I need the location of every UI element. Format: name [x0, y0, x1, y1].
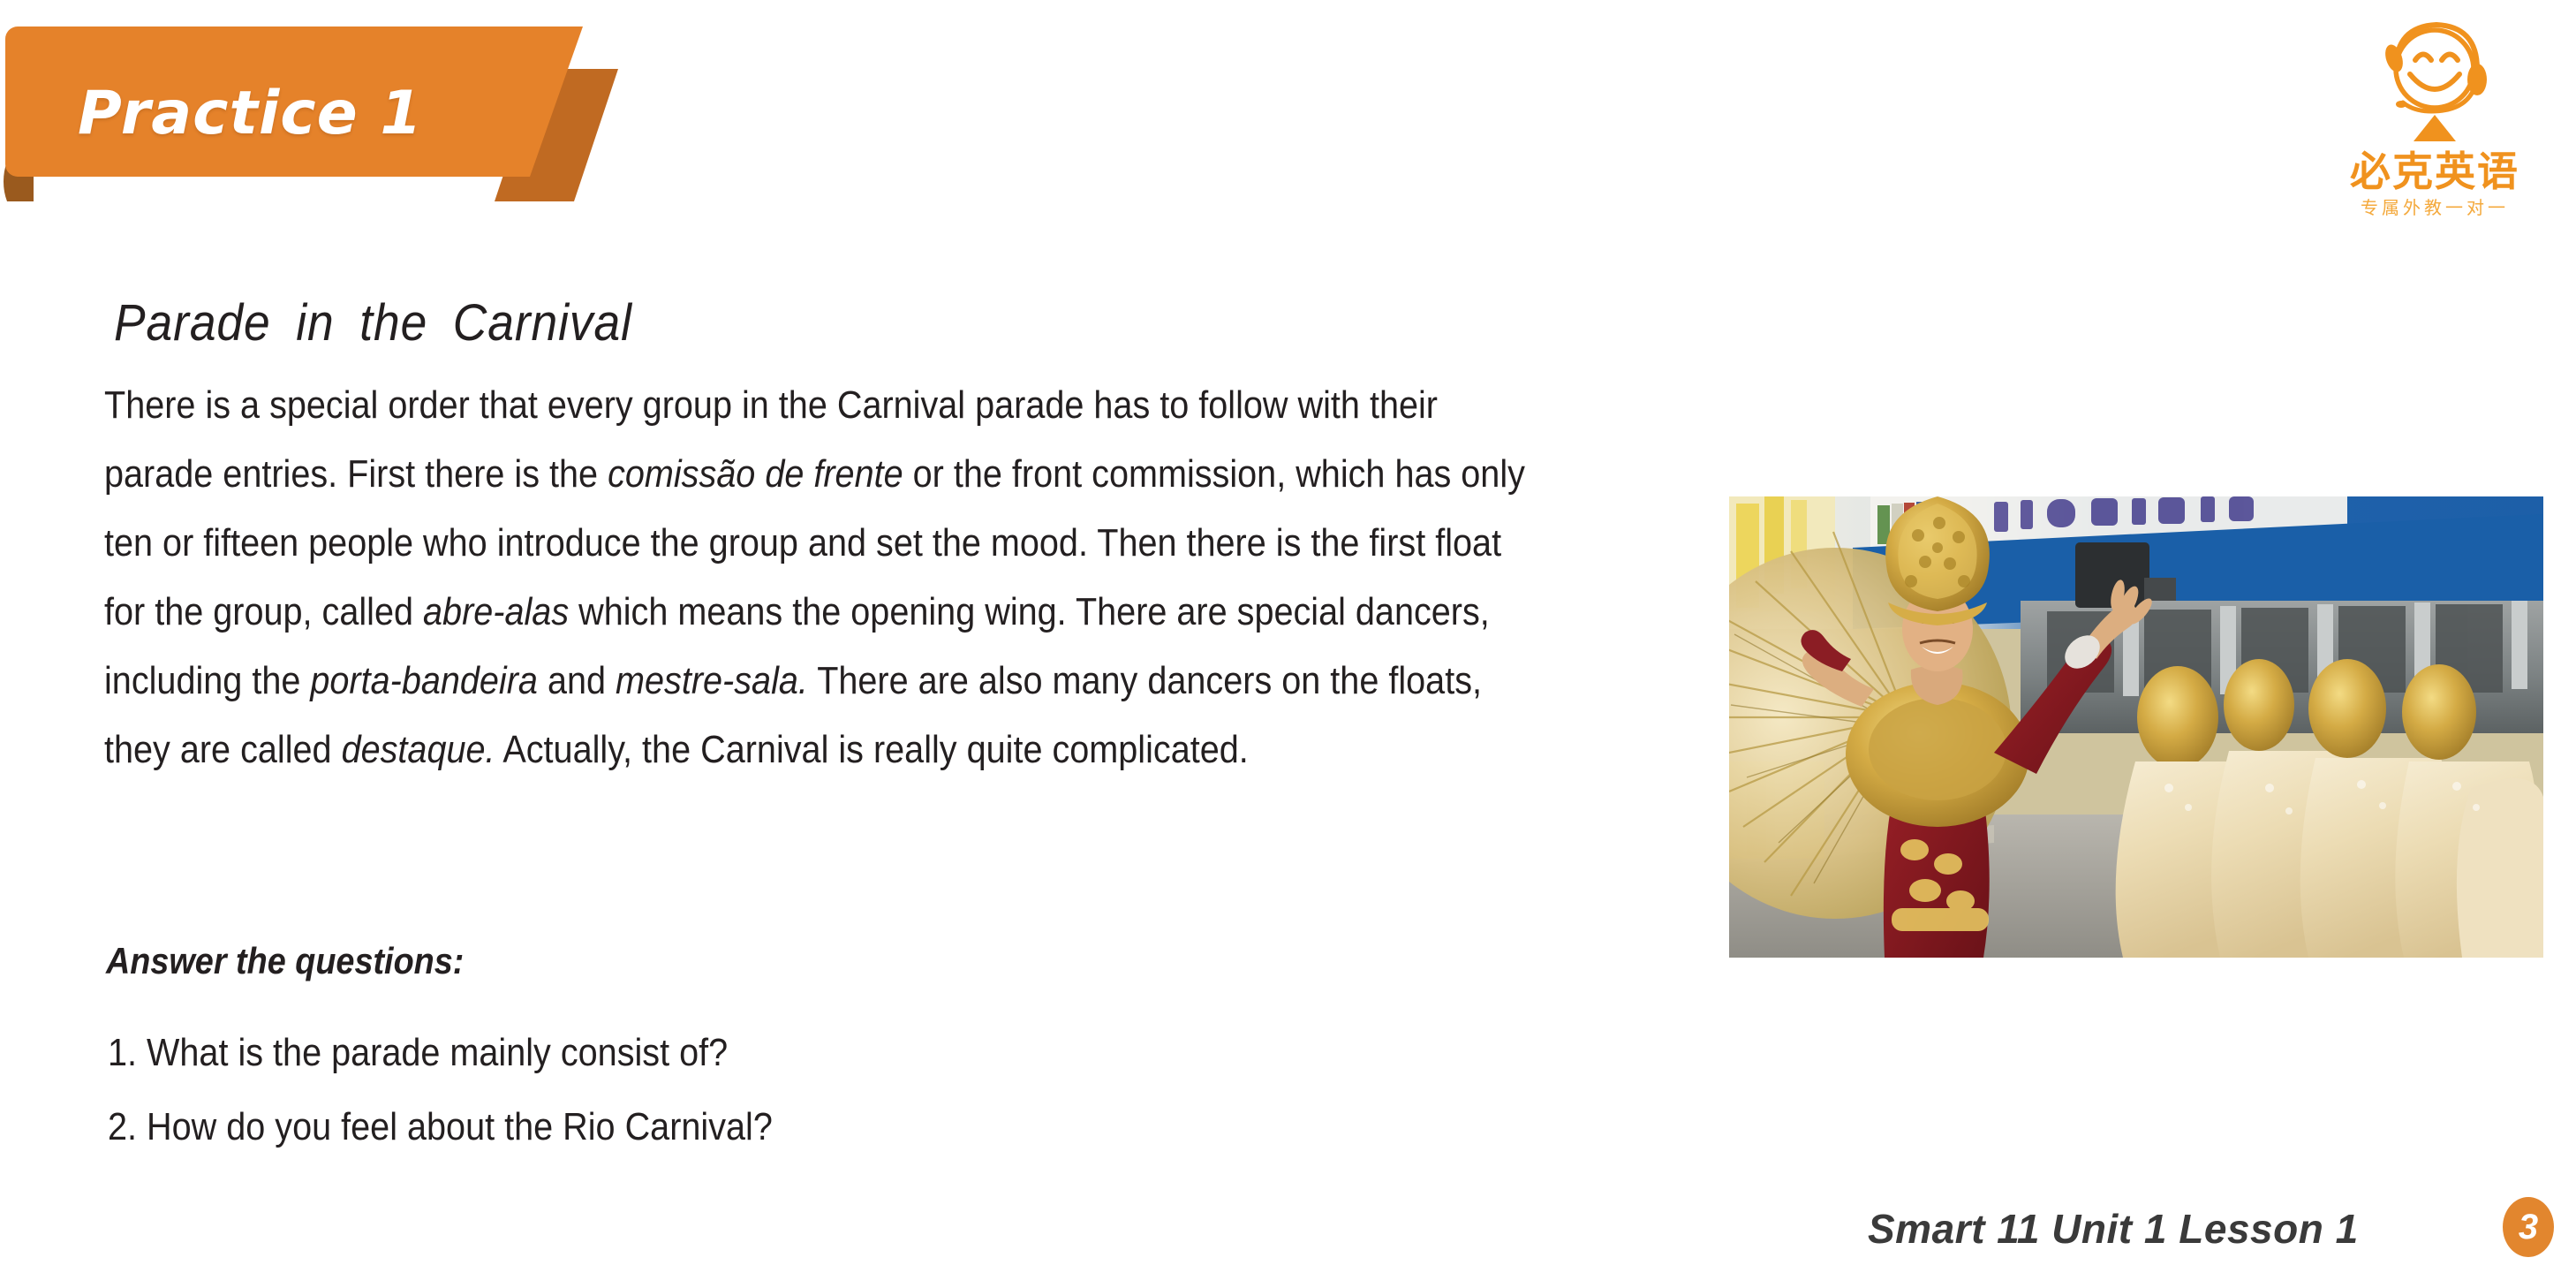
passage-italic-4: mestre-sala.	[616, 659, 808, 702]
passage-italic-2: abre-alas	[423, 590, 569, 633]
logo-brand-name: 必克英语	[2329, 148, 2541, 194]
smiley-headset-icon-svg	[2364, 16, 2505, 144]
question-item-2: 2. How do you feel about the Rio Carniva…	[108, 1090, 1300, 1164]
headset-ear-right	[2467, 64, 2487, 95]
logo-tagline: 专属外教一对一	[2329, 197, 2541, 218]
passage-part-6: Actually, the Carnival is really quite c…	[495, 728, 1249, 771]
practice-banner: Practice 1	[0, 25, 618, 201]
reading-passage: There is a special order that every grou…	[104, 371, 1527, 784]
question-list: 1. What is the parade mainly consist of?…	[108, 1016, 1432, 1164]
answer-questions-heading: Answer the questions:	[106, 938, 464, 984]
lesson-content: Parade in the Carnival There is a specia…	[104, 292, 1685, 784]
question-item-1: 1. What is the parade mainly consist of?	[108, 1016, 1300, 1090]
carnival-parade-photo-svg	[1729, 496, 2543, 958]
carnival-parade-photo	[1729, 496, 2543, 958]
practice-banner-label: Practice 1	[78, 65, 493, 163]
slide-canvas: Practice 1	[0, 0, 2576, 1288]
passage-italic-3: porta-bandeira	[310, 659, 538, 702]
brand-logo: 必克英语 专属外教一对一	[2329, 16, 2541, 237]
footer-lesson-label: Smart 11 Unit 1 Lesson 1	[1868, 1203, 2359, 1254]
passage-italic-5: destaque.	[342, 728, 495, 771]
smiley-headset-icon	[2364, 16, 2505, 144]
passage-part-4: and	[538, 659, 616, 702]
page-title: Parade in the Carnival	[104, 292, 1559, 355]
page-number-badge: 3	[2503, 1197, 2554, 1257]
headset-mic-tip	[2396, 101, 2406, 108]
passage-italic-1: comissão de frente	[608, 452, 903, 496]
logo-triangle	[2414, 115, 2456, 141]
